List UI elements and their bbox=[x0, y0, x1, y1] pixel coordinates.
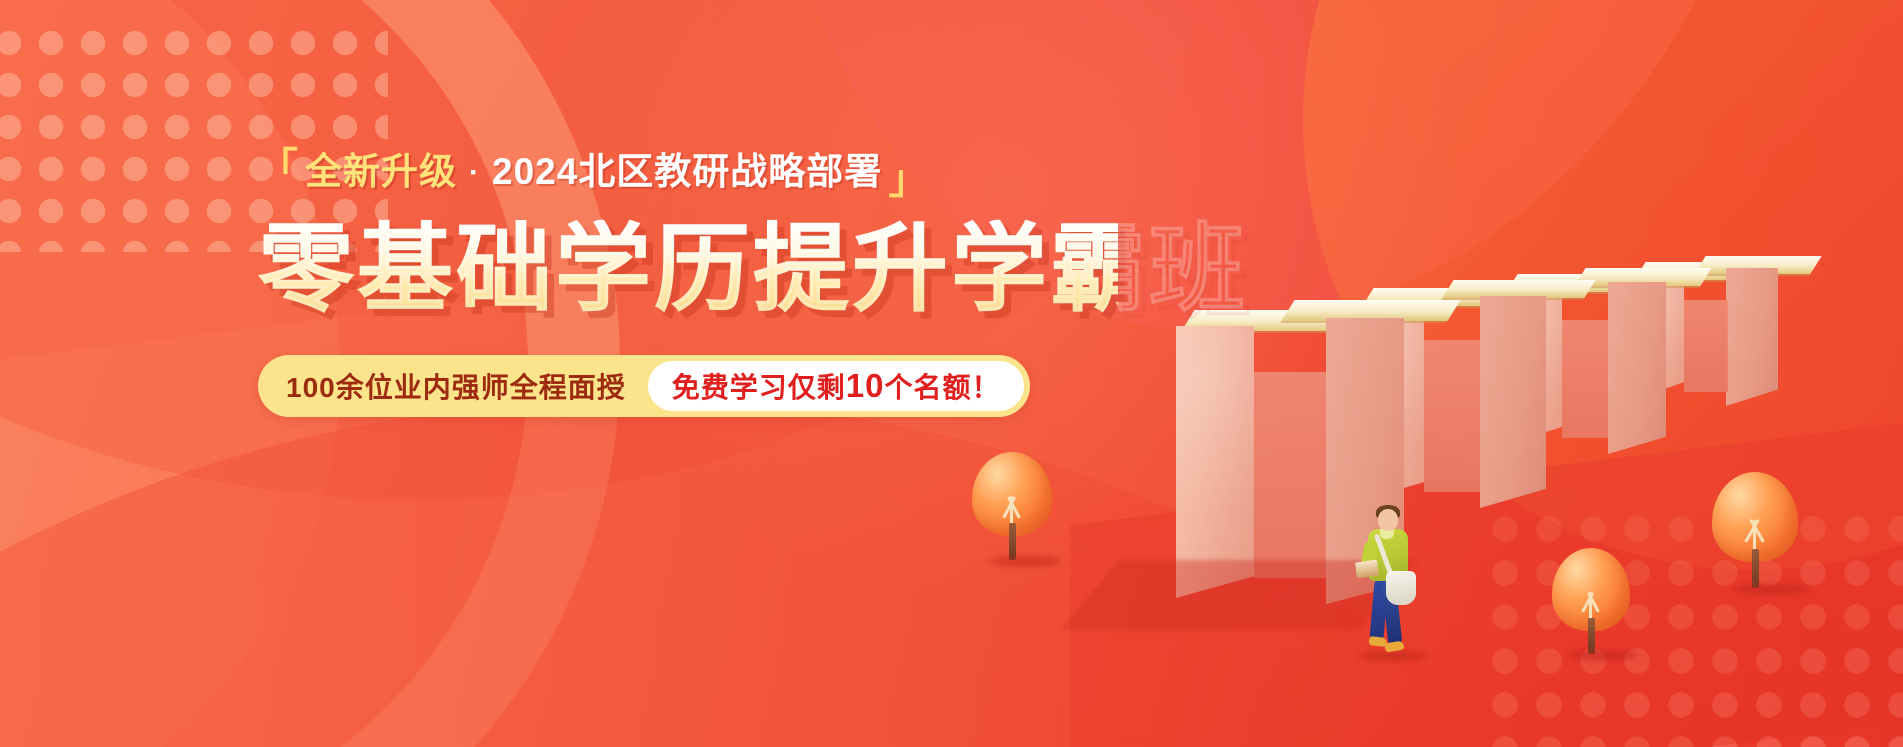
books-illustration bbox=[1160, 0, 1903, 747]
tree-right bbox=[1712, 472, 1798, 588]
tree-left bbox=[972, 452, 1052, 560]
tree-right-trunk bbox=[1752, 549, 1759, 588]
highlight-pill: 100余位业内强师全程面授 免费学习仅剩 10 个名额！ bbox=[258, 355, 1030, 417]
tree-left-trunk bbox=[1009, 523, 1016, 560]
subtitle-bracket-open: 「 bbox=[258, 146, 299, 190]
student-messenger-bag bbox=[1386, 571, 1416, 605]
student-head bbox=[1378, 509, 1398, 531]
student-figure bbox=[1352, 505, 1426, 665]
book-1-left-cover bbox=[1176, 326, 1254, 598]
pill-seats-number: 10 bbox=[846, 367, 885, 405]
book-3-inner-shade bbox=[1562, 320, 1608, 438]
book-2-inner-shade bbox=[1424, 340, 1480, 492]
tree-middle-shadow bbox=[1568, 650, 1638, 661]
subtitle-highlight: 全新升级 bbox=[305, 152, 457, 193]
student-held-book bbox=[1355, 560, 1379, 579]
banner-title: 零基础学历提升学霸班 bbox=[258, 220, 1118, 321]
pill-right-suffix: 个名额！ bbox=[884, 366, 1000, 406]
tree-left-shadow bbox=[990, 556, 1062, 567]
tree-right-shadow bbox=[1732, 584, 1810, 595]
book-4-right-cover bbox=[1726, 268, 1778, 406]
promo-banner: 「 全新升级 · 2024北区教研战略部署 」 零基础学历提升学霸班 100余位… bbox=[0, 0, 1903, 747]
subtitle-rest: 2024北区教研战略部署 bbox=[492, 152, 882, 193]
book-4-inner-shade bbox=[1684, 300, 1728, 392]
pill-right-prefix: 免费学习仅剩 bbox=[672, 366, 846, 406]
tree-middle bbox=[1552, 548, 1630, 654]
subtitle-bracket-close: 」 bbox=[888, 158, 929, 202]
pill-left-label: 100余位业内强师全程面授 bbox=[286, 366, 648, 406]
subtitle-separator: · bbox=[463, 156, 486, 189]
book-2-right-cover bbox=[1480, 296, 1546, 508]
student-shadow bbox=[1358, 651, 1428, 661]
pill-seats-badge: 免费学习仅剩 10 个名额！ bbox=[648, 361, 1025, 411]
book-3-right-cover bbox=[1608, 282, 1666, 454]
banner-subtitle: 「 全新升级 · 2024北区教研战略部署 」 bbox=[258, 150, 1118, 194]
book-1-inner-shade bbox=[1254, 372, 1326, 578]
tree-middle-trunk bbox=[1588, 618, 1595, 654]
banner-copy: 「 全新升级 · 2024北区教研战略部署 」 零基础学历提升学霸班 100余位… bbox=[258, 150, 1118, 417]
